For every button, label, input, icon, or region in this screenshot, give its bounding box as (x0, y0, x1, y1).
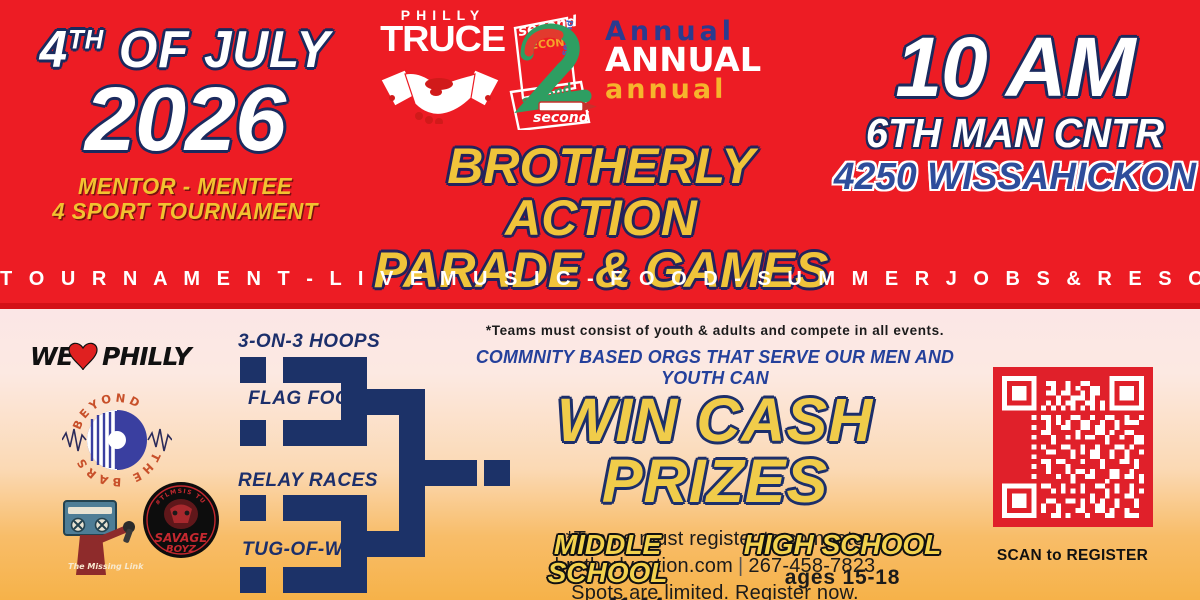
philly-truce-logo: PHILLY TRUCE (383, 8, 498, 56)
svg-text:WE: WE (30, 342, 74, 371)
boombox-mascot-logo: The Missing Link (50, 483, 150, 583)
second-annual-mark: second SECOND second second second 2 (505, 10, 615, 130)
details-panel: WE PHILLY BEY (0, 309, 1200, 600)
date-year: 2026 (0, 78, 374, 164)
svg-text:SAVAGE: SAVAGE (155, 531, 209, 545)
event-title-line-1: BROTHERLY ACTION (373, 140, 829, 244)
division-ages: ages 11-14 (500, 594, 715, 600)
division-ages: ages 15-18 (735, 566, 950, 590)
date-day: 4 (40, 21, 68, 79)
svg-text:The Missing Link: The Missing Link (68, 562, 144, 571)
bracket-connector-final (399, 389, 425, 557)
qr-code-icon[interactable] (993, 367, 1153, 527)
qr-code-svg (1002, 376, 1144, 518)
svg-text:BOYZ: BOYZ (166, 544, 197, 555)
annual-yellow: annual (605, 76, 825, 103)
center-logo-block: PHILLY TRUCE (373, 6, 829, 296)
date-subtitle: MENTOR - MENTEE 4 SPORT TOURNAMENT (7, 174, 362, 226)
bracket-seed-3 (240, 495, 266, 521)
win-cash-prizes-headline: WIN CASH PRIZES (455, 390, 975, 512)
division-name: MIDDLE SCHOOL (500, 531, 715, 587)
beyond-the-bars-logo: BEYOND THE BARS (62, 385, 172, 495)
division-high-school: HIGH SCHOOL ages 15-18 (735, 531, 950, 590)
teams-requirement-note: *Teams must consist of youth & adults an… (455, 323, 975, 338)
division-name: HIGH SCHOOL (735, 531, 950, 559)
eligible-orgs-line: COMMNITY BASED ORGS THAT SERVE OUR MEN A… (458, 347, 973, 389)
event-time: 10 AM (830, 28, 1200, 108)
event-venue-name: 6TH MAN CNTR (836, 112, 1195, 155)
truce-wordmark: TRUCE (380, 22, 501, 56)
annual-stack: Annual ANNUAL annual (605, 18, 825, 103)
header-banner: 4TH OF JULY 2026 MENTOR - MENTEE 4 SPORT… (0, 0, 1200, 309)
event-flyer: 4TH OF JULY 2026 MENTOR - MENTEE 4 SPORT… (0, 0, 1200, 600)
svg-text:PHILLY: PHILLY (102, 342, 195, 371)
handshake-icon (379, 58, 501, 124)
date-headline: 4TH OF JULY (9, 24, 361, 76)
date-subtitle-line-1: MENTOR - MENTEE (7, 174, 362, 200)
bracket-label-hoops: 3-ON-3 HOOPS (238, 331, 380, 353)
bracket-connector-bottom (341, 495, 367, 593)
bracket-seed-2 (240, 420, 266, 446)
date-block: 4TH OF JULY 2026 MENTOR - MENTEE 4 SPORT… (0, 24, 370, 225)
date-day-suffix: TH (68, 25, 104, 55)
bracket-seed-1 (240, 357, 266, 383)
bracket-label-relay-races: RELAY RACES (238, 470, 378, 492)
venue-block: 10 AM 6TH MAN CNTR 4250 WISSAHICKON (830, 28, 1200, 198)
qr-register-block[interactable]: SCAN to REGISTER (985, 367, 1160, 582)
annual-white: ANNUAL (605, 43, 829, 77)
event-venue-address: 4250 WISSAHICKON (834, 158, 1197, 198)
division-middle-school: MIDDLE SCHOOL ages 11-14 (500, 531, 715, 600)
savage-boyz-logo: #TLMSIS TU SAVAGE BOYZ (142, 481, 220, 559)
sponsor-logos: WE PHILLY BEY (12, 323, 224, 588)
bracket-connector-top (341, 357, 367, 446)
bracket-seed-4 (240, 567, 266, 593)
we-heart-philly-logo: WE PHILLY (30, 339, 202, 373)
features-ticker: T O U R N A M E N T - L I V E M U S I C … (0, 268, 1200, 291)
qr-caption: SCAN to REGISTER (985, 547, 1160, 565)
date-subtitle-line-2: 4 SPORT TOURNAMENT (7, 199, 362, 225)
logo-row: PHILLY TRUCE (373, 6, 829, 136)
